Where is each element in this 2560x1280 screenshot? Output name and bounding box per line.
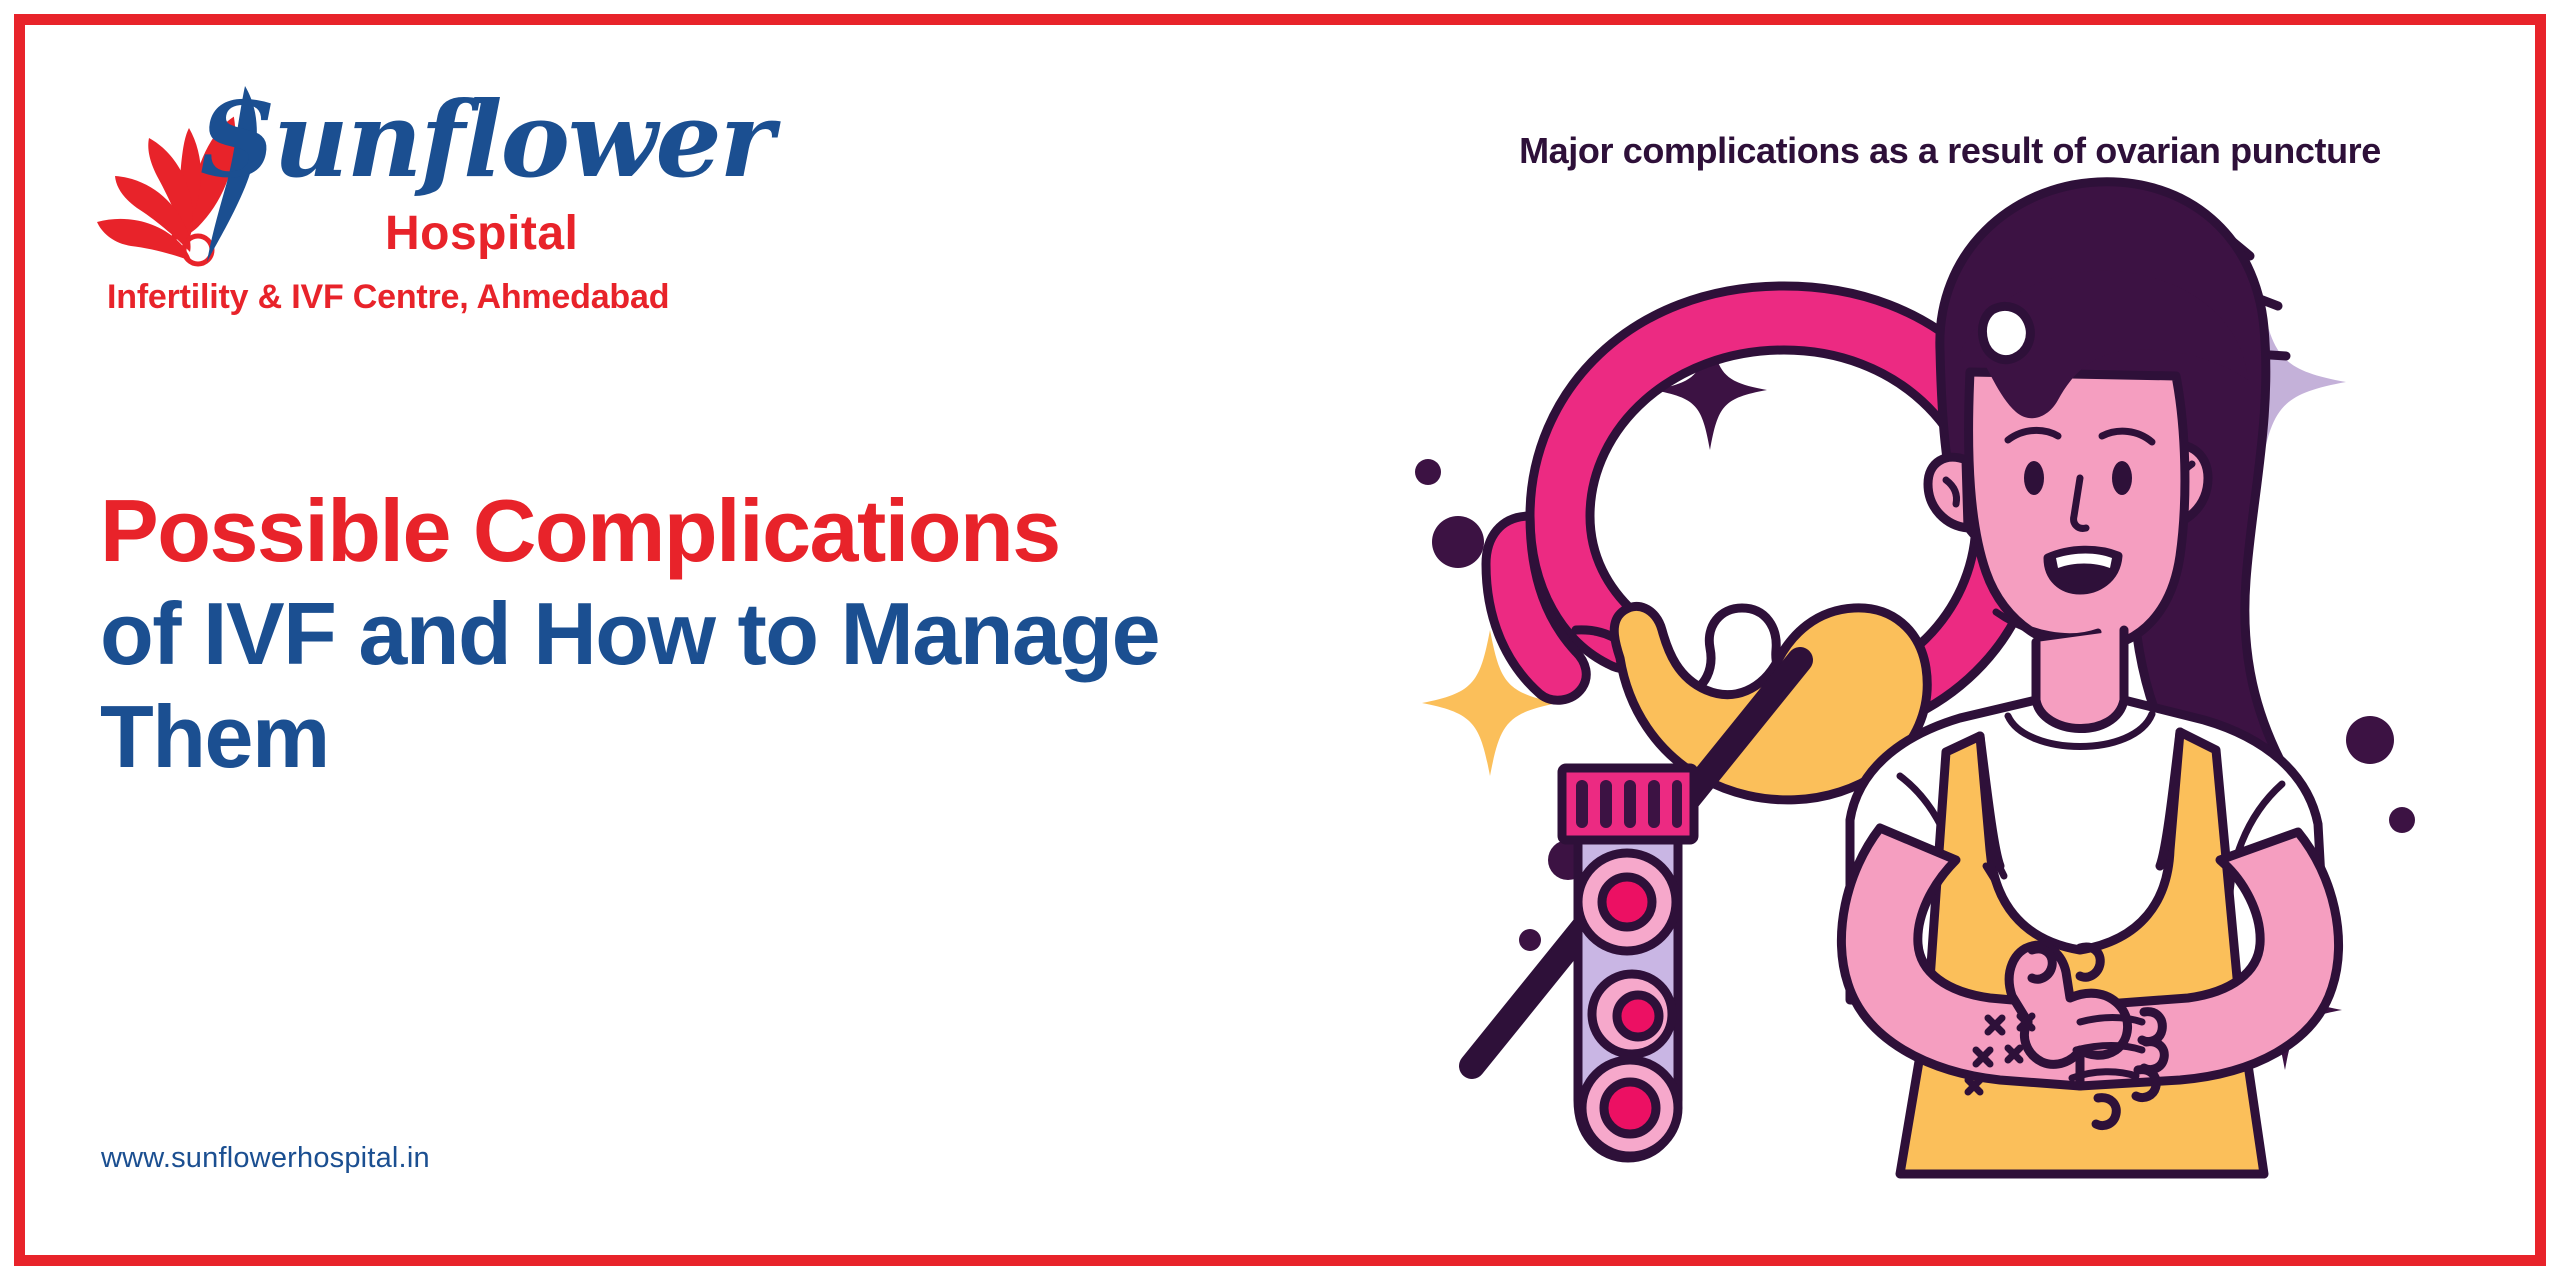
headline-line-3: Them — [100, 686, 1280, 789]
test-tube — [1562, 768, 1694, 1158]
logo-tagline-text: Infertility & IVF Centre, Ahmedabad — [107, 280, 669, 314]
logo-hospital-text: Hospital — [385, 210, 578, 258]
illustration-panel: Major complications as a result of ovari… — [1380, 40, 2510, 1220]
left-content-column: Sunflower Hospital Infertility & IVF Cen… — [0, 0, 1380, 1280]
website-url[interactable]: www.sunflowerhospital.in — [101, 1142, 430, 1175]
page-title: Possible Complications of IVF and How to… — [100, 480, 1280, 789]
ivf-complications-banner: Sunflower Hospital Infertility & IVF Cen… — [0, 0, 2560, 1280]
brand-logo[interactable]: Sunflower Hospital Infertility & IVF Cen… — [95, 70, 735, 330]
headline-line-1: Possible Complications — [100, 480, 1280, 583]
logo-wordmark-text: Sunflower — [200, 88, 772, 192]
headline-line-2: of IVF and How to Manage — [100, 583, 1280, 686]
ovarian-puncture-illustration: .ol { fill:none; stroke:#2e1039; stroke-… — [1380, 160, 2510, 1220]
egg-cells — [1578, 853, 1678, 1156]
